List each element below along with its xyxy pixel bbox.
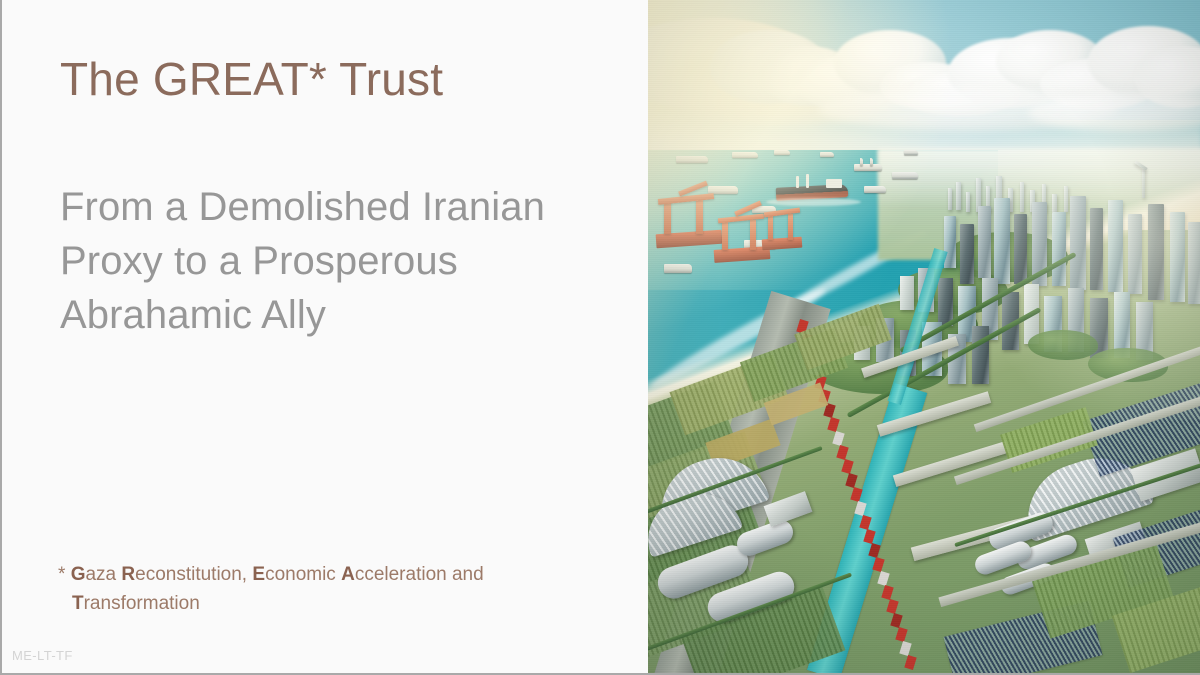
footnote-asterisk: * <box>58 564 65 585</box>
footnote-text: econstitution, <box>135 564 252 585</box>
subtitle-line-3: Abrahamic Ally <box>60 288 620 342</box>
text-panel: The GREAT* Trust From a Demolished Irani… <box>2 0 648 675</box>
footnote-acronym-letter: G <box>71 564 86 585</box>
footnote-line-2: Transformation <box>58 589 618 618</box>
footnote: * Gaza Reconstitution, Economic Accelera… <box>58 560 618 618</box>
subtitle-line-1: From a Demolished Iranian <box>60 180 620 234</box>
footnote-text: ransformation <box>84 593 200 614</box>
deck-code-tag: ME-LT-TF <box>12 648 73 663</box>
footnote-text: aza <box>85 564 121 585</box>
footnote-acronym-letter: A <box>341 564 355 585</box>
footnote-acronym-letter: T <box>72 593 84 614</box>
footnote-text: cceleration and <box>355 564 484 585</box>
footnote-acronym-letter: R <box>121 564 135 585</box>
footnote-text: conomic <box>265 564 341 585</box>
film-grain <box>648 0 1200 675</box>
presentation-slide: The GREAT* Trust From a Demolished Irani… <box>0 0 1200 675</box>
footnote-acronym-letter: E <box>252 564 265 585</box>
aerial-city-illustration <box>648 0 1200 675</box>
subtitle-line-2: Proxy to a Prosperous <box>60 234 620 288</box>
footnote-line-1: Gaza Reconstitution, Economic Accelerati… <box>71 564 484 585</box>
illustration-panel <box>648 0 1200 675</box>
subtitle: From a Demolished Iranian Proxy to a Pro… <box>60 180 620 342</box>
page-title: The GREAT* Trust <box>60 52 443 106</box>
